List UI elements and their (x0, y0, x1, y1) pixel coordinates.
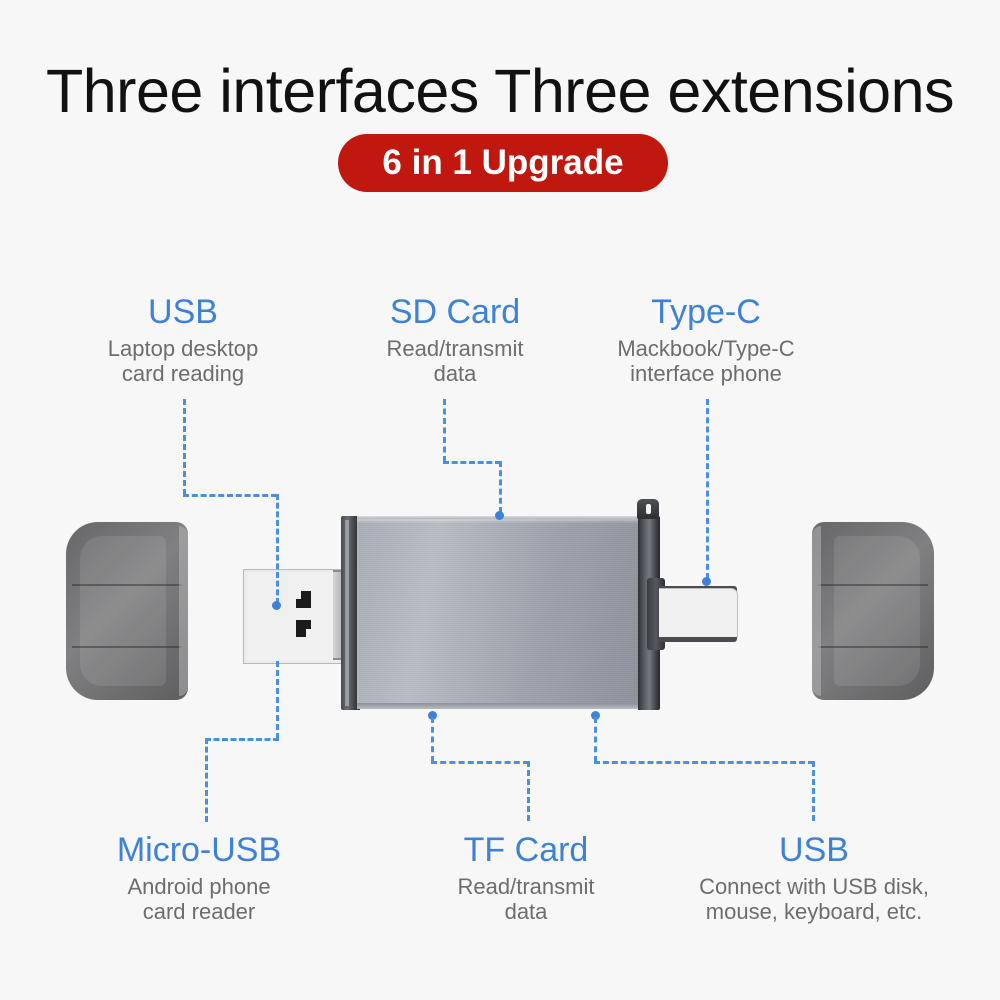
callout-sd-card-title: SD Card (335, 292, 575, 332)
leader-microusb-segment-v1 (276, 661, 279, 739)
callout-sd-card-desc-line1: Read/transmit (335, 336, 575, 361)
callout-micro-usb: Micro-USB Android phone card reader (79, 830, 319, 924)
leader-usb-top-segment-v2 (276, 494, 279, 604)
leader-usb-top-segment-v1 (183, 399, 186, 495)
device-body-texture (357, 519, 642, 707)
callout-type-c-desc: Mackbook/Type-C interface phone (586, 336, 826, 386)
callout-usb-bottom-desc: Connect with USB disk, mouse, keyboard, … (674, 874, 954, 924)
leader-usb-top-endpoint (272, 601, 281, 610)
callout-usb-top-desc-line1: Laptop desktop (63, 336, 303, 361)
callout-micro-usb-desc-line2: card reader (79, 899, 319, 924)
callout-usb-top: USB Laptop desktop card reading (63, 292, 303, 386)
callout-sd-card-desc-line2: data (335, 361, 575, 386)
callout-type-c-title: Type-C (586, 292, 826, 332)
leader-microusb-segment-h (205, 738, 279, 741)
right-cap-band-lower (818, 646, 928, 648)
leader-tf-segment-v1 (431, 717, 434, 762)
right-cap-band-upper (818, 584, 928, 586)
callout-type-c: Type-C Mackbook/Type-C interface phone (586, 292, 826, 386)
lanyard-hole (646, 504, 651, 514)
type-c-rim-bottom (659, 637, 737, 642)
callout-micro-usb-title: Micro-USB (79, 830, 319, 870)
leader-tf-segment-h (431, 761, 529, 764)
callout-usb-top-desc-line2: card reading (63, 361, 303, 386)
body-end-cap-left-highlight (345, 520, 349, 706)
leader-typec-segment-v (706, 399, 709, 579)
leader-usb-top-segment-h (183, 494, 277, 497)
callout-usb-bottom-desc-line2: mouse, keyboard, etc. (674, 899, 954, 924)
leader-usb-bottom-segment-v2 (812, 761, 815, 821)
callout-tf-card-title: TF Card (406, 830, 646, 870)
callout-tf-card-desc-line1: Read/transmit (406, 874, 646, 899)
callout-sd-card-desc: Read/transmit data (335, 336, 575, 386)
callout-type-c-desc-line2: interface phone (586, 361, 826, 386)
leader-usb-bottom-segment-h (594, 761, 814, 764)
type-c-connector (659, 588, 738, 642)
callout-micro-usb-desc-line1: Android phone (79, 874, 319, 899)
leader-usb-bottom-segment-v1 (594, 717, 597, 762)
left-cap-band-upper (72, 584, 182, 586)
left-protective-cap (66, 522, 188, 700)
leader-tf-segment-v2 (527, 761, 530, 821)
callout-type-c-desc-line1: Mackbook/Type-C (586, 336, 826, 361)
callout-usb-bottom: USB Connect with USB disk, mouse, keyboa… (674, 830, 954, 924)
leader-sd-endpoint (495, 511, 504, 520)
leader-microusb-segment-v2 (205, 738, 208, 822)
usb-a-contact-notch-bottom (306, 629, 311, 637)
callout-sd-card: SD Card Read/transmit data (335, 292, 575, 386)
left-cap-outer-edge (179, 526, 188, 696)
infographic-canvas: Three interfaces Three extensions 6 in 1… (0, 0, 1000, 1000)
left-cap-band-lower (72, 646, 182, 648)
body-trim-bottom (357, 703, 642, 709)
usb-a-contact-notch-top (296, 591, 301, 599)
leader-sd-segment-v2 (499, 461, 502, 513)
right-protective-cap (812, 522, 934, 700)
callout-tf-card: TF Card Read/transmit data (406, 830, 646, 924)
leader-sd-segment-v1 (443, 399, 446, 462)
right-cap-outer-edge (812, 526, 821, 696)
callout-usb-top-desc: Laptop desktop card reading (63, 336, 303, 386)
leader-typec-endpoint (702, 577, 711, 586)
left-cap-inner-face (80, 536, 166, 686)
callout-micro-usb-desc: Android phone card reader (79, 874, 319, 924)
callout-usb-top-title: USB (63, 292, 303, 332)
leader-sd-segment-h (443, 461, 501, 464)
callout-usb-bottom-desc-line1: Connect with USB disk, (674, 874, 954, 899)
right-cap-inner-face (834, 536, 920, 686)
callout-tf-card-desc-line2: data (406, 899, 646, 924)
callout-tf-card-desc: Read/transmit data (406, 874, 646, 924)
callout-usb-bottom-title: USB (674, 830, 954, 870)
